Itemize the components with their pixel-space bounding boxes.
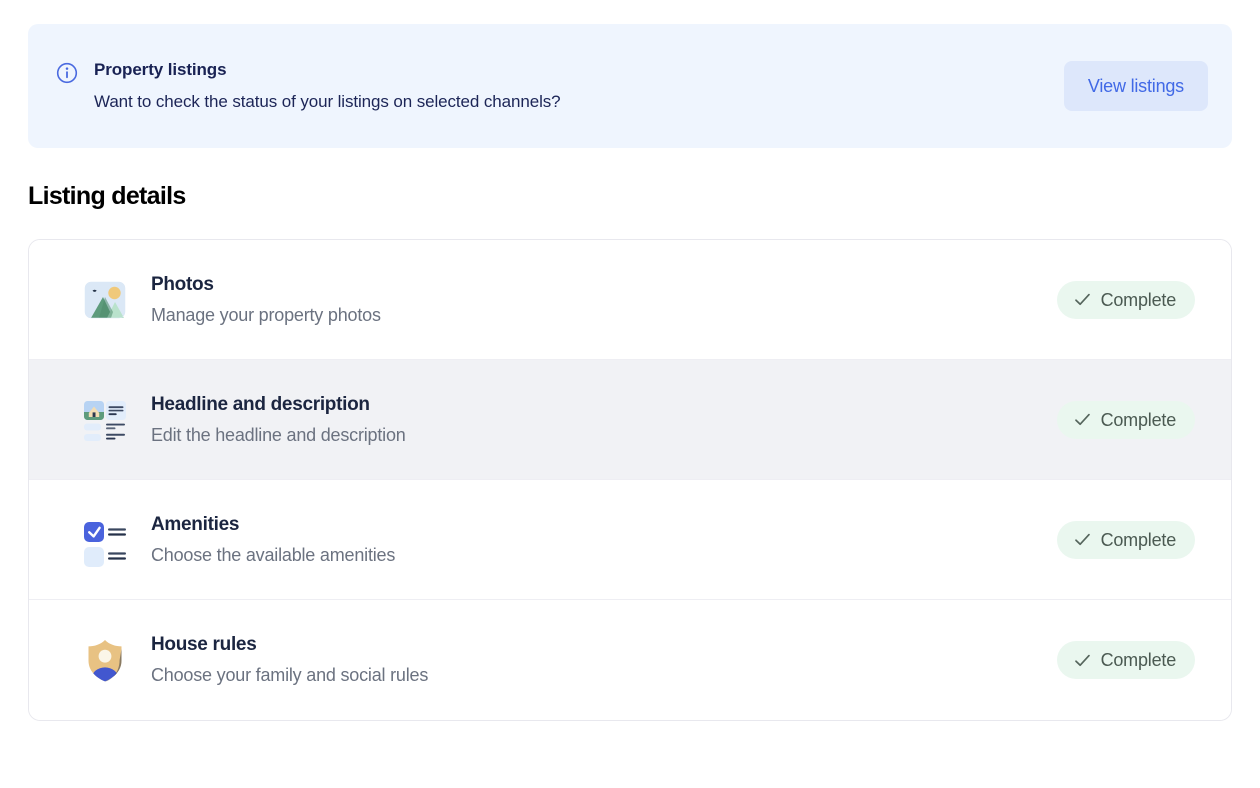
list-item-amenities[interactable]: Amenities Choose the available amenities…	[29, 480, 1231, 600]
banner-title: Property listings	[94, 59, 1064, 81]
headline-description-icon	[81, 396, 129, 444]
check-icon	[1074, 291, 1091, 308]
status-badge-label: Complete	[1101, 291, 1176, 309]
page-title: Listing details	[28, 182, 1232, 211]
photo-landscape-icon	[81, 276, 129, 324]
list-item-title: Headline and description	[151, 394, 1057, 416]
list-item-title: Photos	[151, 274, 1057, 296]
check-icon	[1074, 652, 1091, 669]
list-item-text-block: Amenities Choose the available amenities	[151, 514, 1057, 566]
banner-subtitle: Want to check the status of your listing…	[94, 91, 1064, 113]
status-badge-label: Complete	[1101, 531, 1176, 549]
check-icon	[1074, 411, 1091, 428]
status-badge: Complete	[1057, 281, 1195, 319]
list-item-house-rules[interactable]: House rules Choose your family and socia…	[29, 600, 1231, 720]
shield-person-icon	[81, 636, 129, 684]
status-badge: Complete	[1057, 521, 1195, 559]
list-item-text-block: Headline and description Edit the headli…	[151, 394, 1057, 446]
list-item-text-block: Photos Manage your property photos	[151, 274, 1057, 326]
status-badge-label: Complete	[1101, 651, 1176, 669]
banner-text-block: Property listings Want to check the stat…	[94, 59, 1064, 113]
view-listings-button[interactable]: View listings	[1064, 61, 1208, 111]
list-item-photos[interactable]: Photos Manage your property photos Compl…	[29, 240, 1231, 360]
list-item-text-block: House rules Choose your family and socia…	[151, 634, 1057, 686]
status-badge-label: Complete	[1101, 411, 1176, 429]
list-item-subtitle: Manage your property photos	[151, 305, 1057, 326]
status-badge: Complete	[1057, 401, 1195, 439]
status-badge: Complete	[1057, 641, 1195, 679]
list-item-title: Amenities	[151, 514, 1057, 536]
checklist-icon	[81, 516, 129, 564]
info-circle-icon	[56, 62, 78, 84]
listing-details-page: Property listings Want to check the stat…	[0, 24, 1260, 788]
listing-details-card: Photos Manage your property photos Compl…	[28, 239, 1232, 721]
property-listings-banner: Property listings Want to check the stat…	[28, 24, 1232, 148]
list-item-headline-and-description[interactable]: Headline and description Edit the headli…	[29, 360, 1231, 480]
list-item-subtitle: Choose your family and social rules	[151, 665, 1057, 686]
list-item-subtitle: Choose the available amenities	[151, 545, 1057, 566]
list-item-title: House rules	[151, 634, 1057, 656]
list-item-subtitle: Edit the headline and description	[151, 425, 1057, 446]
check-icon	[1074, 531, 1091, 548]
